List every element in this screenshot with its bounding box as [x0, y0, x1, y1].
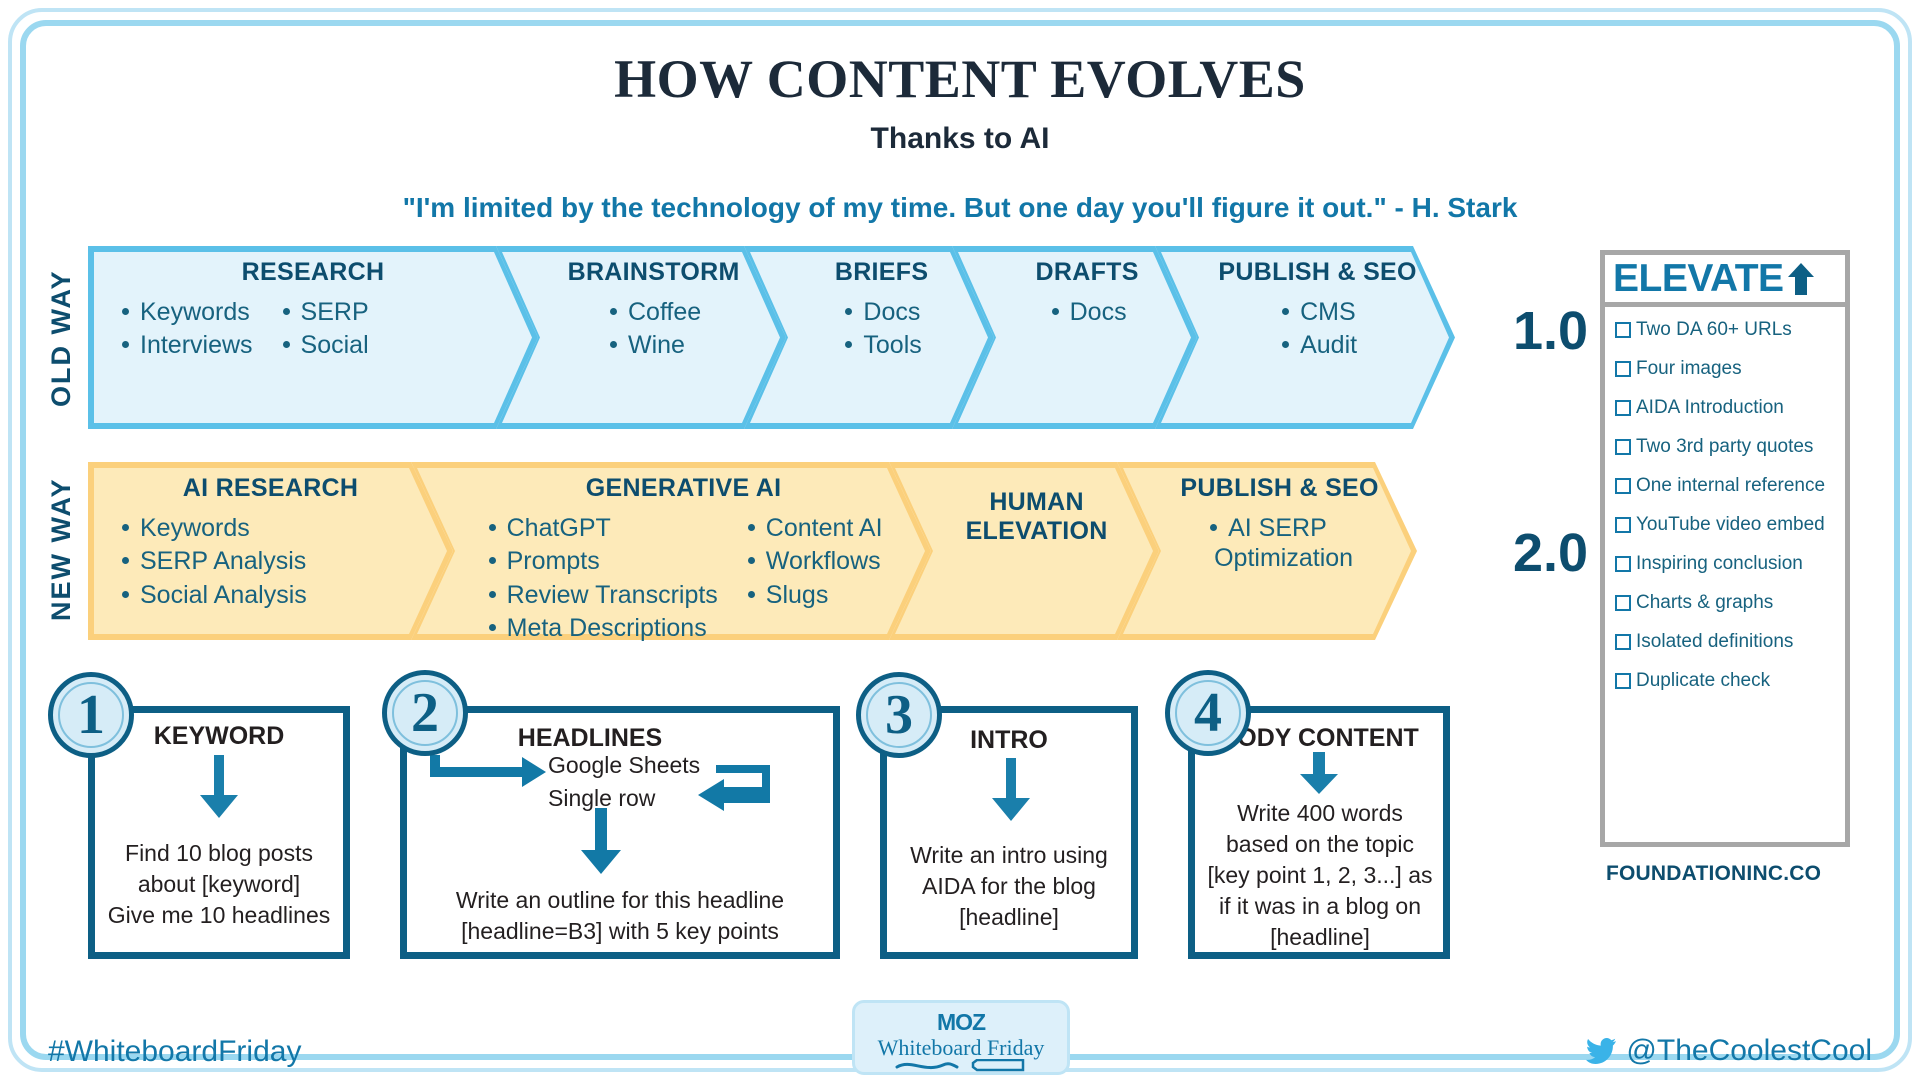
stage-item: Keywords [118, 513, 307, 544]
moz-whiteboard-friday-badge: MOZ Whiteboard Friday [852, 1000, 1070, 1075]
elevate-item-label: Duplicate check [1636, 670, 1770, 692]
step-2-down-arrow-icon [580, 808, 622, 876]
step-3-number: 3 [885, 687, 913, 743]
twitter-bird-icon [1586, 1038, 1616, 1064]
stage-item: Social Analysis [118, 580, 307, 611]
marker-squiggle-icon [891, 1059, 1031, 1073]
flow-stage-research: RESEARCHKeywordsInterviewsSERPSocial [88, 246, 538, 429]
stage-item-list: SERPSocial [279, 297, 369, 364]
stage-item: CMS [1278, 297, 1357, 328]
elevate-item-label: YouTube video embed [1636, 514, 1825, 536]
elevate-item-label: One internal reference [1636, 475, 1825, 497]
elevate-checklist-item[interactable]: One internal reference [1615, 475, 1835, 497]
checkbox-icon[interactable] [1615, 478, 1631, 494]
elevate-checklist-item[interactable]: Duplicate check [1615, 670, 1835, 692]
stage-title: AI RESEARCH [88, 474, 453, 503]
step-2-loop-arrow-icon [690, 763, 772, 811]
step-2-badge: 2 [382, 670, 468, 756]
checkbox-icon[interactable] [1615, 322, 1631, 338]
stage-item: Interviews [118, 330, 253, 361]
rail-label-new-way: NEW WAY [46, 462, 77, 637]
elevate-checklist-item[interactable]: Inspiring conclusion [1615, 553, 1835, 575]
stage-item-list: KeywordsSERP AnalysisSocial Analysis [118, 513, 307, 614]
version-badge-old: 1.0 [1513, 300, 1588, 362]
step-2-right-arrow-icon [430, 755, 548, 789]
stage-title: RESEARCH [88, 258, 538, 287]
step-1-down-arrow-icon [198, 755, 240, 820]
checkbox-icon[interactable] [1615, 400, 1631, 416]
elevate-heading: ELEVATE [1613, 257, 1784, 301]
stage-item: Keywords [118, 297, 253, 328]
step-3-badge: 3 [856, 672, 942, 758]
stage-title: GENERATIVE AI [411, 474, 931, 503]
checkbox-icon[interactable] [1615, 673, 1631, 689]
hashtag-label: #WhiteboardFriday [48, 1035, 301, 1069]
page-title: HOW CONTENT EVOLVES [0, 48, 1920, 110]
flow-stage-ai-research: AI RESEARCHKeywordsSERP AnalysisSocial A… [88, 462, 453, 640]
stage-item: Prompts [485, 546, 718, 577]
elevate-checklist-item[interactable]: Two DA 60+ URLs [1615, 319, 1835, 341]
elevate-item-label: Two DA 60+ URLs [1636, 319, 1792, 341]
flow-stage-publish-seo: PUBLISH & SEOCMSAudit [1155, 246, 1455, 429]
step-4-down-arrow-icon [1298, 752, 1340, 796]
flow-stage-generative-ai: GENERATIVE AIChatGPTPromptsReview Transc… [411, 462, 931, 640]
flow-stage-brainstorm: BRAINSTORMCoffeeWine [496, 246, 786, 429]
stage-item-list: KeywordsInterviews [118, 297, 253, 364]
up-arrow-icon [1788, 263, 1814, 295]
step-4-badge: 4 [1165, 670, 1251, 756]
moz-logo-text: MOZ [855, 1009, 1067, 1036]
elevate-item-label: Inspiring conclusion [1636, 553, 1803, 575]
step-2-text: Write an outline for this headline[headl… [400, 885, 840, 947]
stage-item-list: CMSAudit [1278, 297, 1357, 364]
step-4-number: 4 [1194, 685, 1222, 741]
elevate-checklist-item[interactable]: Charts & graphs [1615, 592, 1835, 614]
header-quote: "I'm limited by the technology of my tim… [0, 192, 1920, 224]
checkbox-icon[interactable] [1615, 595, 1631, 611]
step-1-text: Find 10 blog postsabout [keyword]Give me… [88, 838, 350, 931]
elevate-checklist-item[interactable]: Four images [1615, 358, 1835, 380]
stage-title: PUBLISH & SEO [1155, 258, 1455, 287]
stage-item: Audit [1278, 330, 1357, 361]
flow-new-way: AI RESEARCHKeywordsSERP AnalysisSocial A… [88, 462, 1417, 640]
step-3-down-arrow-icon [990, 758, 1032, 823]
elevate-panel-header: ELEVATE [1605, 255, 1845, 307]
stage-item: Workflows [744, 546, 883, 577]
checkbox-icon[interactable] [1615, 556, 1631, 572]
flow-stage-publish-seo: PUBLISH & SEOAI SERPOptimization [1117, 462, 1417, 640]
elevate-item-list: Two DA 60+ URLsFour imagesAIDA Introduct… [1605, 307, 1845, 692]
elevate-item-label: Charts & graphs [1636, 592, 1773, 614]
stage-item: Docs [1048, 297, 1127, 328]
elevate-checklist-item[interactable]: AIDA Introduction [1615, 397, 1835, 419]
step-1-number: 1 [77, 687, 105, 743]
moz-tagline: Whiteboard Friday [855, 1036, 1067, 1059]
stage-item: Coffee [606, 297, 701, 328]
page-subtitle: Thanks to AI [0, 122, 1920, 156]
stage-item: ChatGPT [485, 513, 718, 544]
stage-item: SERP [279, 297, 369, 328]
checkbox-icon[interactable] [1615, 634, 1631, 650]
stage-item-list: Content AIWorkflowsSlugs [744, 513, 883, 647]
elevate-checklist-item[interactable]: Two 3rd party quotes [1615, 436, 1835, 458]
social-handle-group: @TheCoolestCool [1586, 1034, 1872, 1068]
elevate-item-label: Two 3rd party quotes [1636, 436, 1813, 458]
elevate-checklist-item[interactable]: YouTube video embed [1615, 514, 1835, 536]
step-2-number: 2 [411, 685, 439, 741]
stage-item: Slugs [744, 580, 883, 611]
step-3-text: Write an intro usingAIDA for the blog[he… [880, 840, 1138, 933]
stage-item: Content AI [744, 513, 883, 544]
elevate-checklist-panel: ELEVATE Two DA 60+ URLsFour imagesAIDA I… [1600, 250, 1850, 847]
checkbox-icon[interactable] [1615, 361, 1631, 377]
stage-item: AI SERPOptimization [1206, 513, 1353, 574]
elevate-checklist-item[interactable]: Isolated definitions [1615, 631, 1835, 653]
checkbox-icon[interactable] [1615, 439, 1631, 455]
rail-label-old-way: OLD WAY [46, 248, 77, 428]
stage-title: BRAINSTORM [496, 258, 786, 287]
checkbox-icon[interactable] [1615, 517, 1631, 533]
stage-item: Review Transcripts [485, 580, 718, 611]
elevate-item-label: AIDA Introduction [1636, 397, 1784, 419]
twitter-handle: @TheCoolestCool [1626, 1034, 1872, 1068]
stage-item-list: ChatGPTPromptsReview TranscriptsMeta Des… [485, 513, 718, 647]
step-4-text: Write 400 wordsbased on the topic[key po… [1184, 798, 1456, 953]
foundation-credit: FOUNDATIONINC.CO [1606, 862, 1821, 886]
stage-item: Social [279, 330, 369, 361]
stage-item: SERP Analysis [118, 546, 307, 577]
flow-old-way: RESEARCHKeywordsInterviewsSERPSocialBRAI… [88, 246, 1455, 429]
stage-item: Docs [841, 297, 921, 328]
stage-item-list: AI SERPOptimization [1206, 513, 1353, 577]
version-badge-new: 2.0 [1513, 522, 1588, 584]
step-1-badge: 1 [48, 672, 134, 758]
stage-item: Meta Descriptions [485, 613, 718, 644]
stage-item-list: CoffeeWine [606, 297, 701, 364]
elevate-item-label: Isolated definitions [1636, 631, 1793, 653]
stage-item: Tools [841, 330, 921, 361]
stage-item: Wine [606, 330, 701, 361]
stage-title: PUBLISH & SEO [1117, 474, 1417, 503]
stage-item-list: Docs [1048, 297, 1127, 331]
stage-item-list: DocsTools [841, 297, 921, 364]
elevate-item-label: Four images [1636, 358, 1742, 380]
